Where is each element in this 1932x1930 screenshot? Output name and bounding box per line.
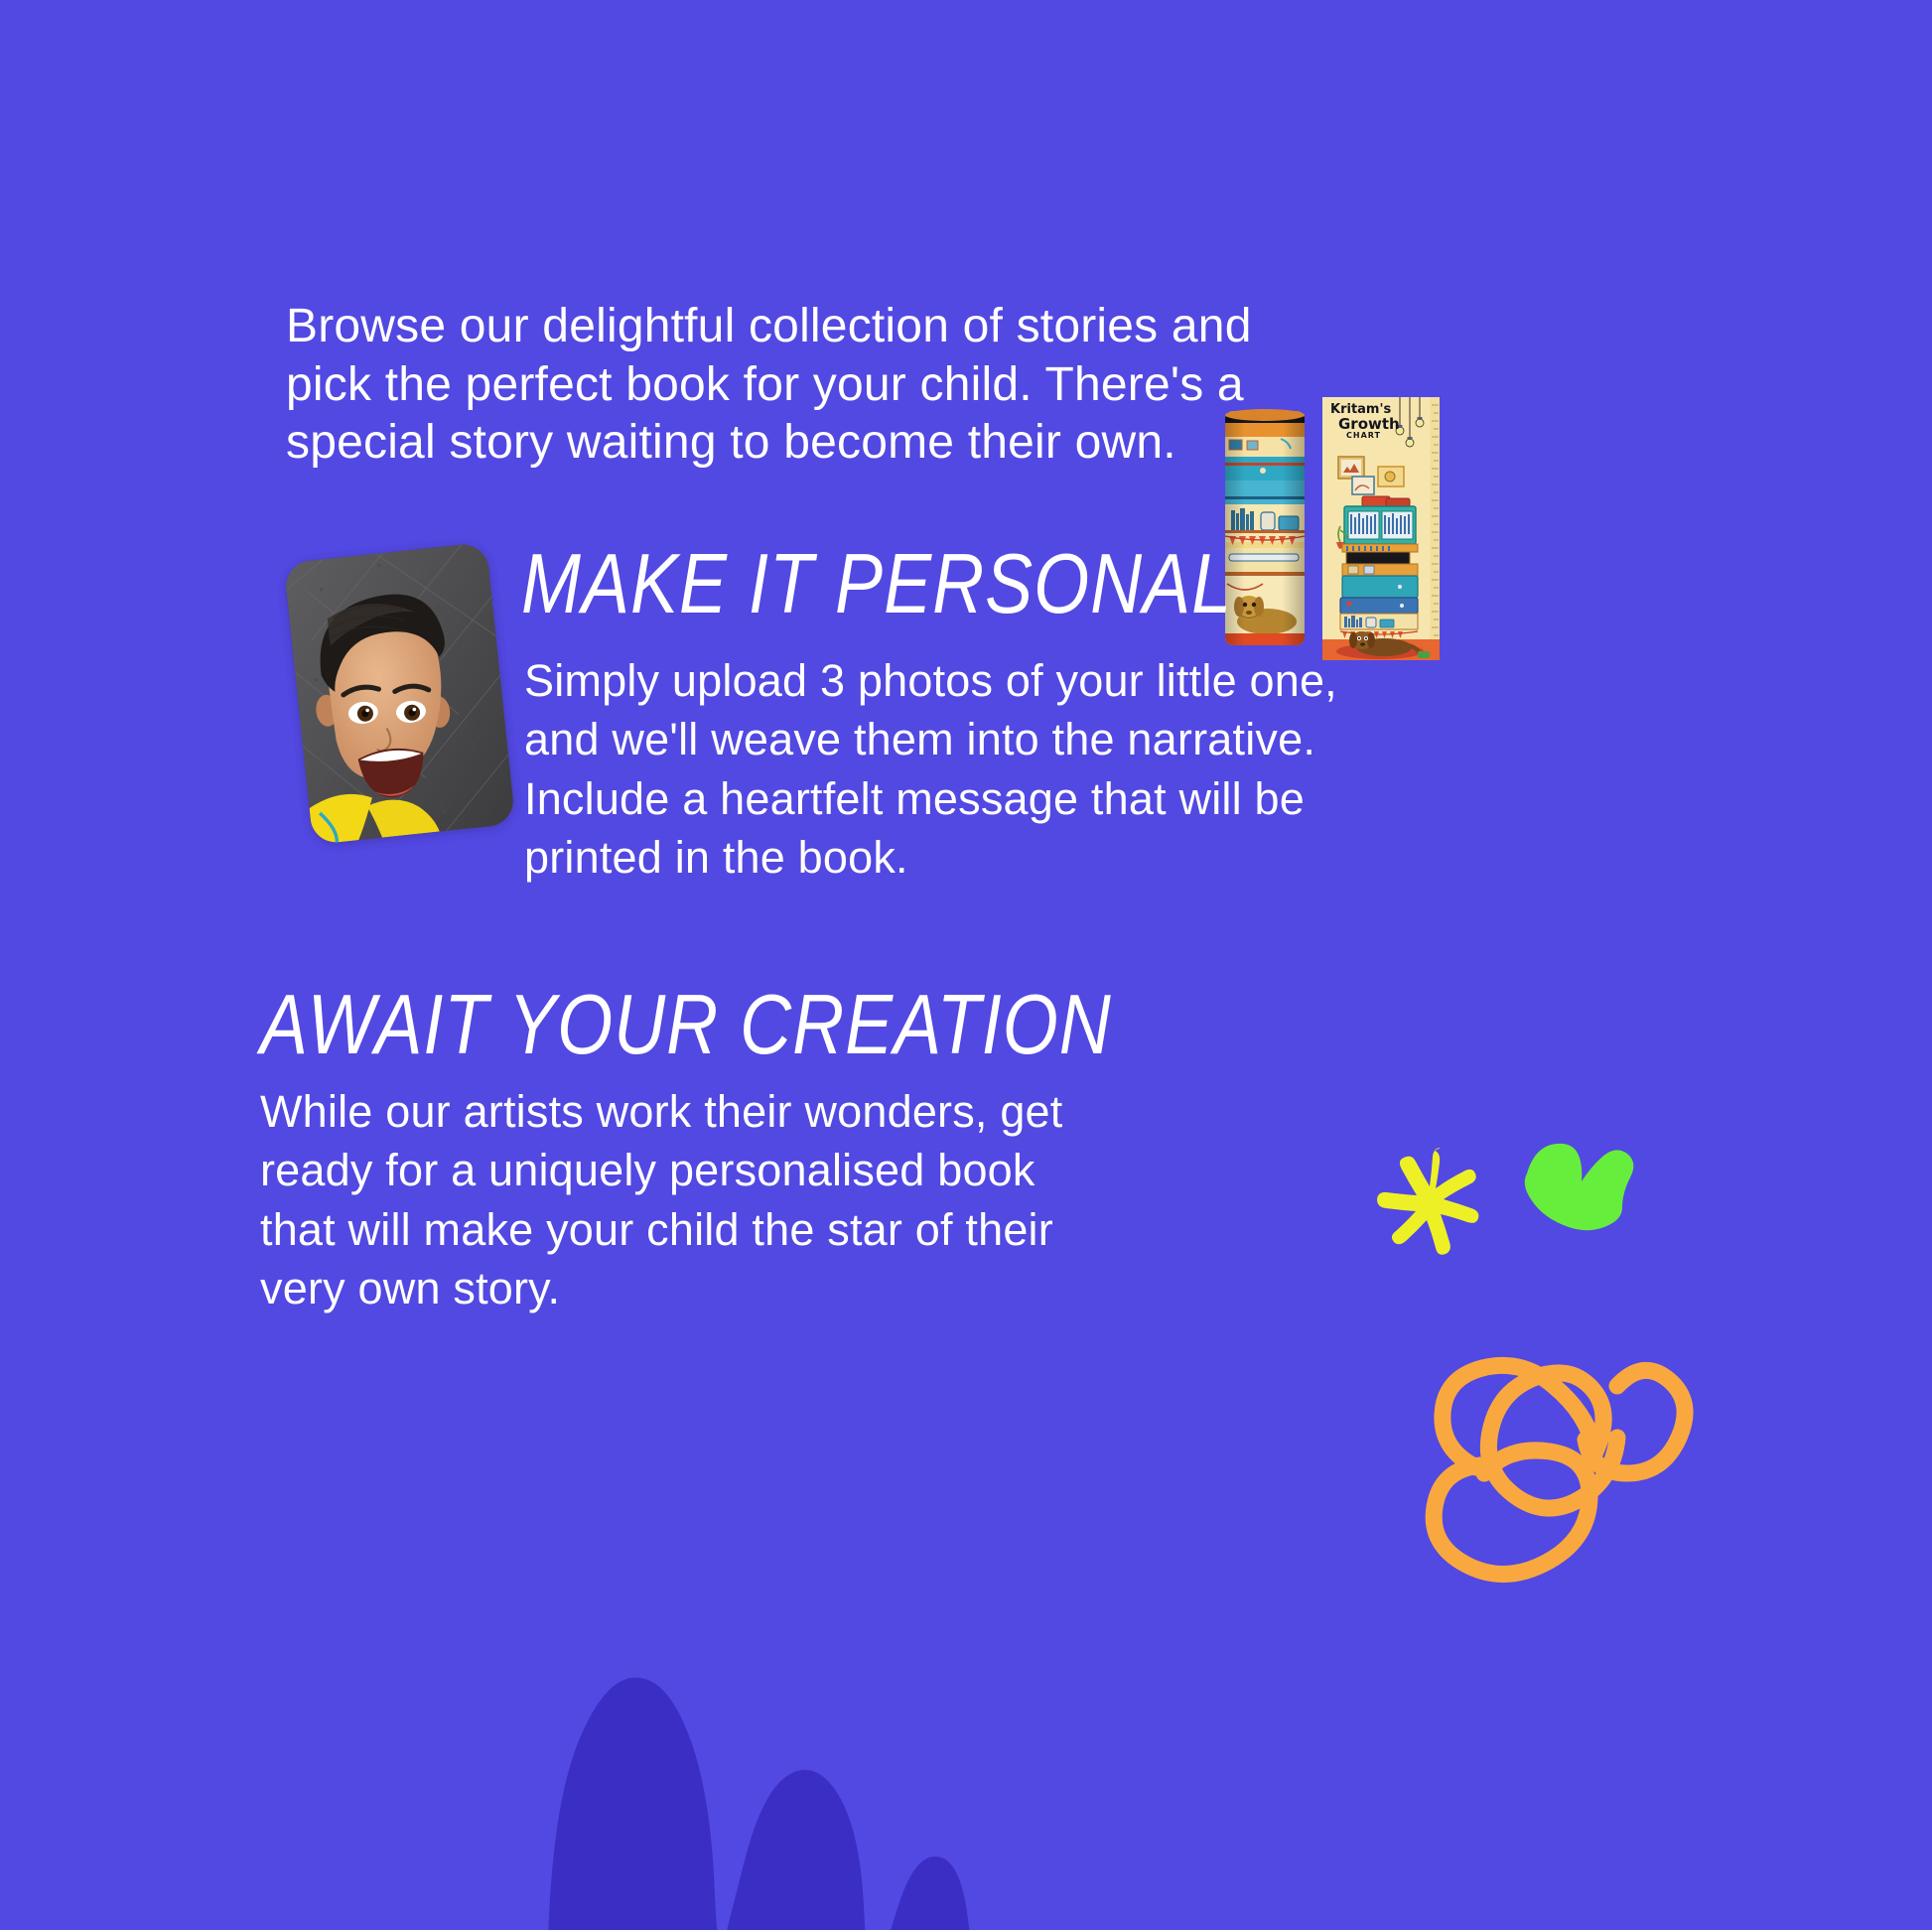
leaf-icon: [1509, 1140, 1658, 1259]
star-icon: [1375, 1147, 1499, 1286]
product-images: Kritam's Growth CHART: [1223, 397, 1461, 665]
intro-paragraph: Browse our delightful collection of stor…: [286, 298, 1309, 473]
gift-tube-image: [1223, 405, 1307, 651]
poster-canvas: Browse our delightful collection of stor…: [0, 0, 1932, 1930]
child-photo: [284, 542, 516, 845]
spiral-scribble-icon: [1415, 1320, 1703, 1608]
section-paragraph-await-your-creation: While our artists work their wonders, ge…: [260, 1082, 1104, 1318]
section-heading-await-your-creation: AWAIT YOUR CREATION: [260, 983, 1074, 1067]
wave-silhouette: [516, 1616, 1330, 1930]
section-paragraph-make-it-personal: Simply upload 3 photos of your little on…: [524, 651, 1378, 888]
growth-chart-poster-image: [1322, 397, 1440, 660]
section-heading-make-it-personal: MAKE IT PERSONAL: [521, 542, 1216, 626]
